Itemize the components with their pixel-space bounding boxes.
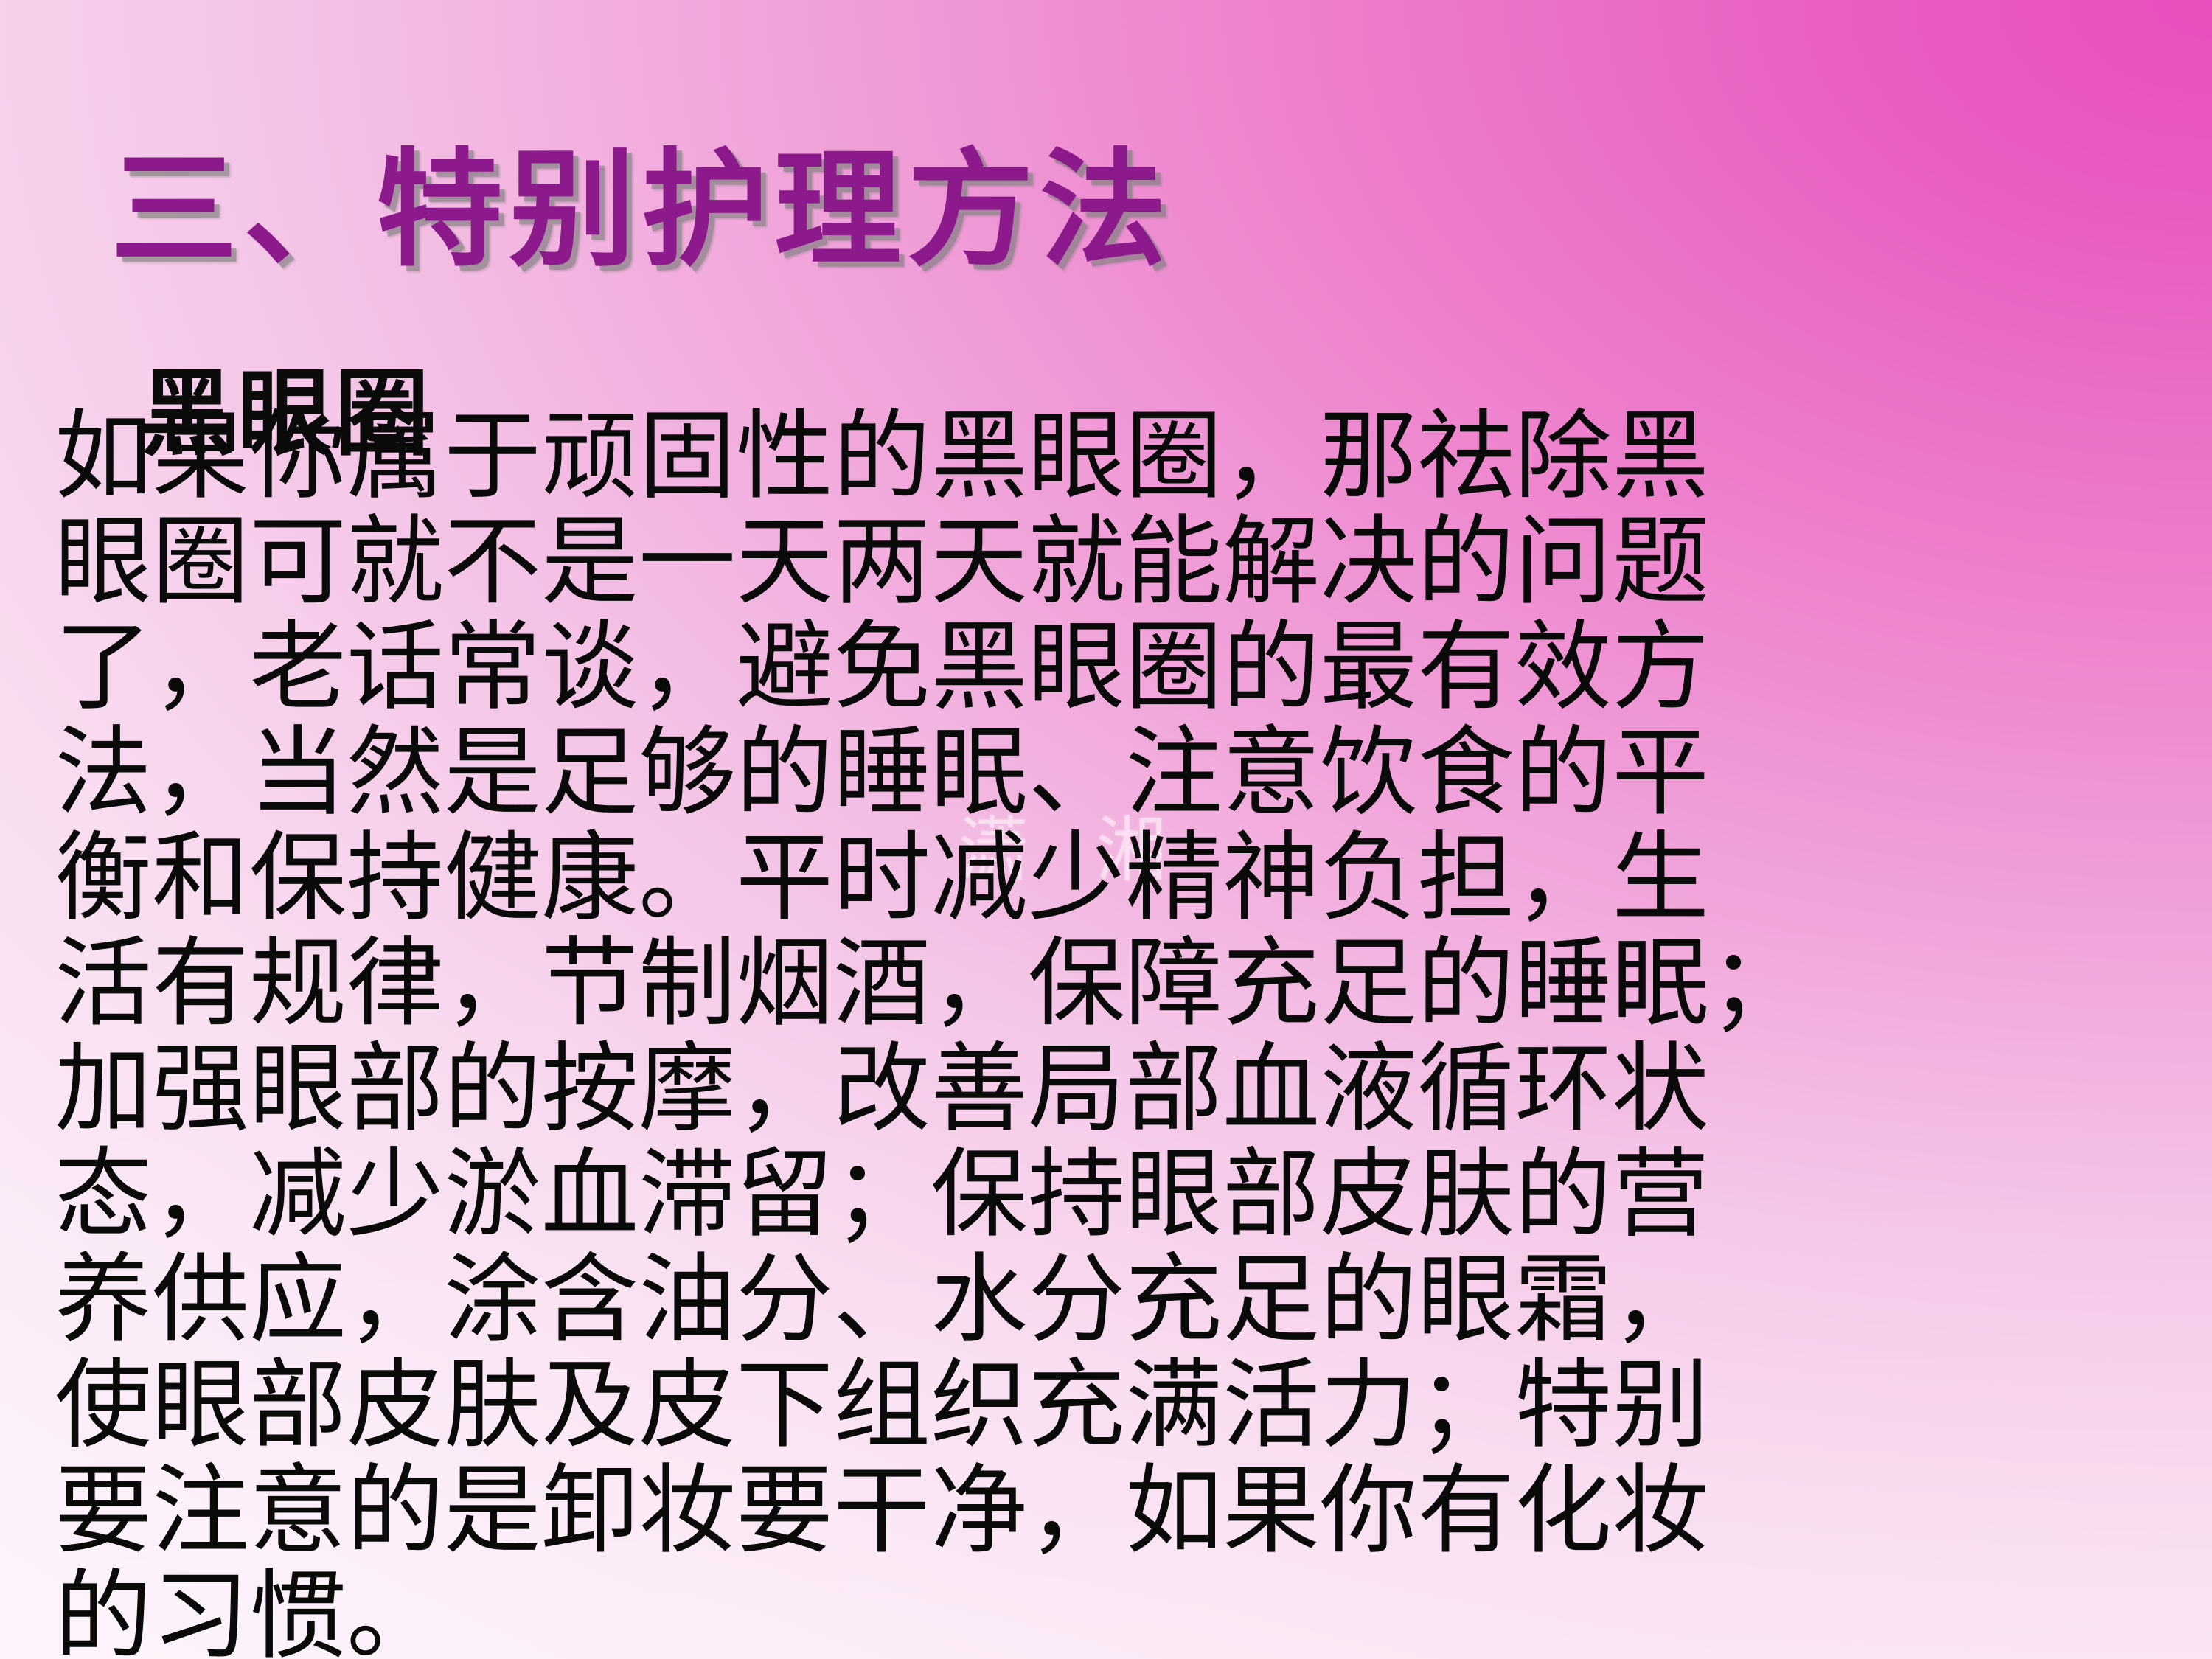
body-line: 养供应，涂含油分、水分充足的眼霜，: [55, 1248, 1640, 1353]
body-line: 眼圈可就不是一天两天就能解决的问题: [55, 509, 1640, 615]
body-line: 如果你属于顽固性的黑眼圈，那祛除黑: [55, 404, 1640, 509]
body-line: 要注意的是卸妆要干净，如果你有化妆: [55, 1458, 1640, 1564]
slide-body: 如果你属于顽固性的黑眼圈，那祛除黑 眼圈可就不是一天两天就能解决的问题 了，老话…: [55, 404, 1640, 1659]
body-line: 了，老话常谈，避免黑眼圈的最有效方: [55, 615, 1640, 720]
body-line: 的习惯。: [55, 1564, 1640, 1659]
body-line: 使眼部皮肤及皮下组织充满活力；特别: [55, 1353, 1640, 1458]
body-line: 加强眼部的按摩，改善局部血液循环状: [55, 1037, 1640, 1142]
body-line: 衡和保持健康。平时减少精神负担，生: [55, 826, 1640, 931]
slide-title: 三、特别护理方法: [111, 142, 1172, 276]
body-line: 活有规律，节制烟酒，保障充足的睡眠；: [55, 931, 1640, 1037]
body-line: 法，当然是足够的睡眠、注意饮食的平: [55, 720, 1640, 826]
body-line: 态，减少淤血滞留；保持眼部皮肤的营: [55, 1142, 1640, 1248]
presentation-slide: 潇 湘 三、特别护理方法 黑眼圈 如果你属于顽固性的黑眼圈，那祛除黑 眼圈可就不…: [0, 0, 2212, 1659]
